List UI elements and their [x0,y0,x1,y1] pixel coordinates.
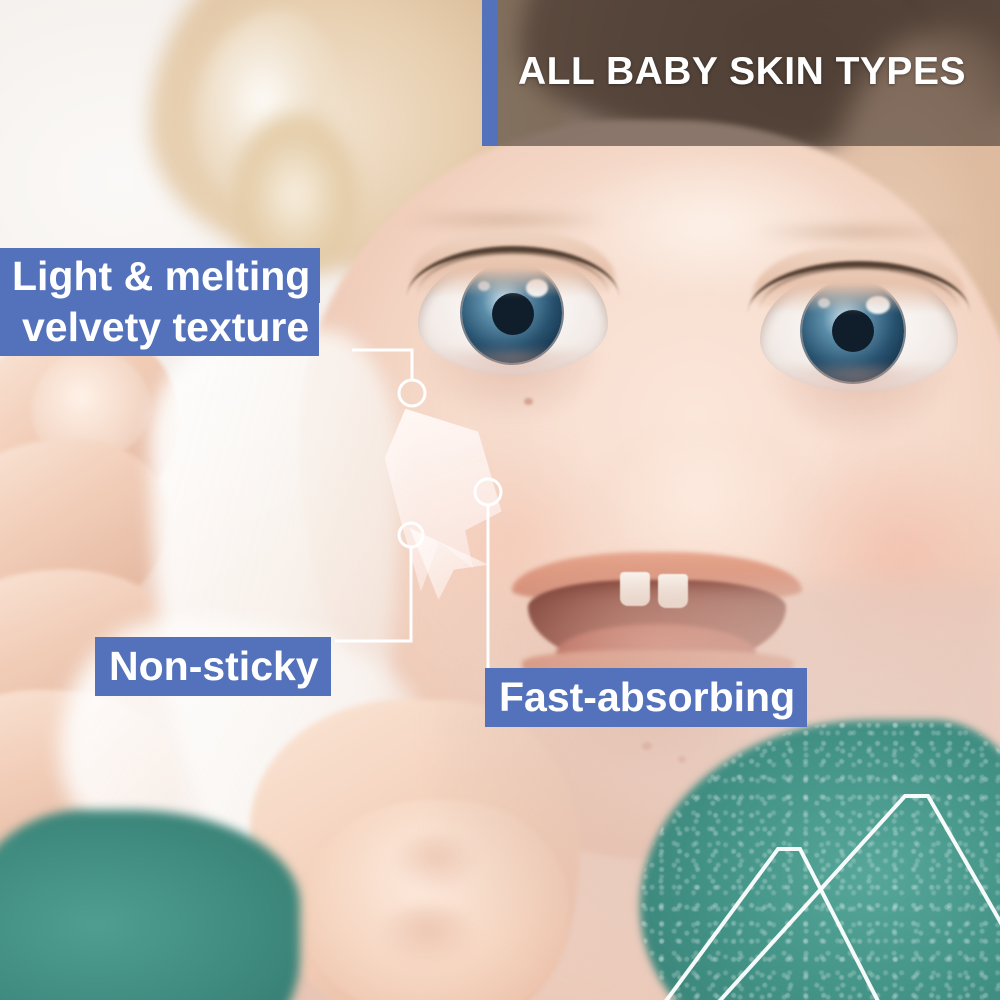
brow-left [400,212,610,228]
callout-label-texture-line1: Light & melting [0,248,320,303]
skin-freckle [524,398,533,405]
header-title: ALL BABY SKIN TYPES [518,50,966,94]
baby-eye-left [418,253,608,375]
baby-eye-right [760,268,958,392]
callout-label-non-sticky: Non-sticky [95,637,331,696]
product-promo-image: ALL BABY SKIN TYPES Light & melting velv… [0,0,1000,1000]
callout-label-texture-line2: velvety texture [0,301,319,356]
callout-label-fast-absorbing: Fast-absorbing [485,668,807,727]
brow-right [752,224,967,240]
eye-left-pupil [492,293,534,335]
eye-right-pupil [832,310,874,352]
header-accent-bar [482,0,498,146]
background-photograph [0,0,1000,1000]
